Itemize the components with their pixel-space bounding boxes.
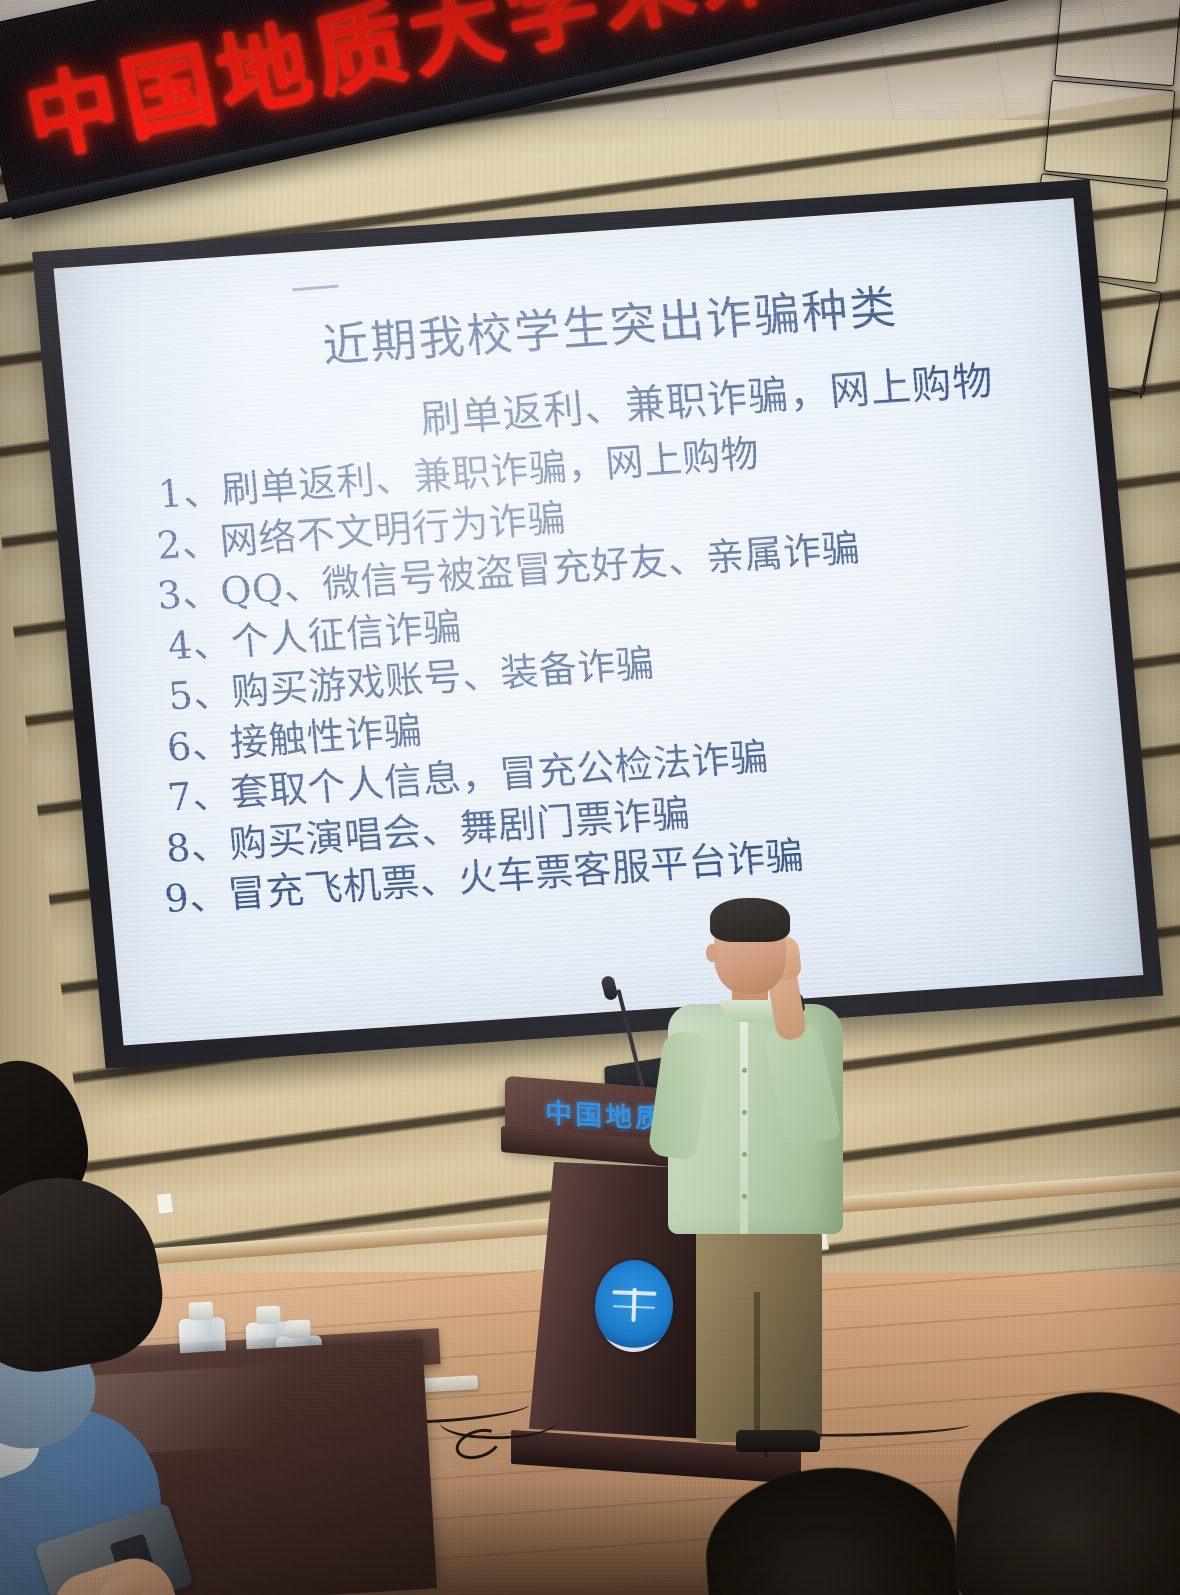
shirt-button	[742, 1194, 747, 1199]
presenter-hair	[710, 898, 790, 942]
audience-attendee-with-phone	[0, 1178, 250, 1595]
screen-surface: 近期我校学生突出诈骗种类 刷单返利、兼职诈骗，网上购物 1、刷单返利、兼职诈骗，…	[54, 198, 1144, 1045]
projection-screen: 近期我校学生突出诈骗种类 刷单返利、兼职诈骗，网上购物 1、刷单返利、兼职诈骗，…	[32, 179, 1163, 1069]
speaker-module	[1044, 80, 1176, 182]
attendee-hair	[0, 1162, 173, 1384]
presenter-trouser-seam	[754, 1292, 760, 1442]
presenter-ear	[706, 944, 718, 962]
photo-scene: 中国地质大学未来城校区欢迎您 近期我校学生突出诈骗种类 刷单返利、兼职诈骗，网上…	[0, 0, 1180, 1595]
slide-dash-mark	[292, 285, 338, 292]
bottle-cap	[286, 1320, 311, 1339]
bottle-cap	[256, 1306, 281, 1325]
presenter-shirt-placket	[740, 1016, 748, 1234]
slide-item-list: 1、刷单返利、兼职诈骗，网上购物 2、网络不文明行为诈骗 3、QQ、微信号被盗冒…	[124, 408, 1093, 925]
presenter-person	[648, 896, 868, 1456]
shirt-button	[742, 1152, 747, 1157]
presentation-slide: 近期我校学生突出诈骗种类 刷单返利、兼职诈骗，网上购物 1、刷单返利、兼职诈骗，…	[54, 198, 1144, 1045]
shirt-button	[742, 1110, 747, 1115]
shirt-button	[742, 1068, 747, 1073]
speaker-module	[1054, 0, 1180, 86]
